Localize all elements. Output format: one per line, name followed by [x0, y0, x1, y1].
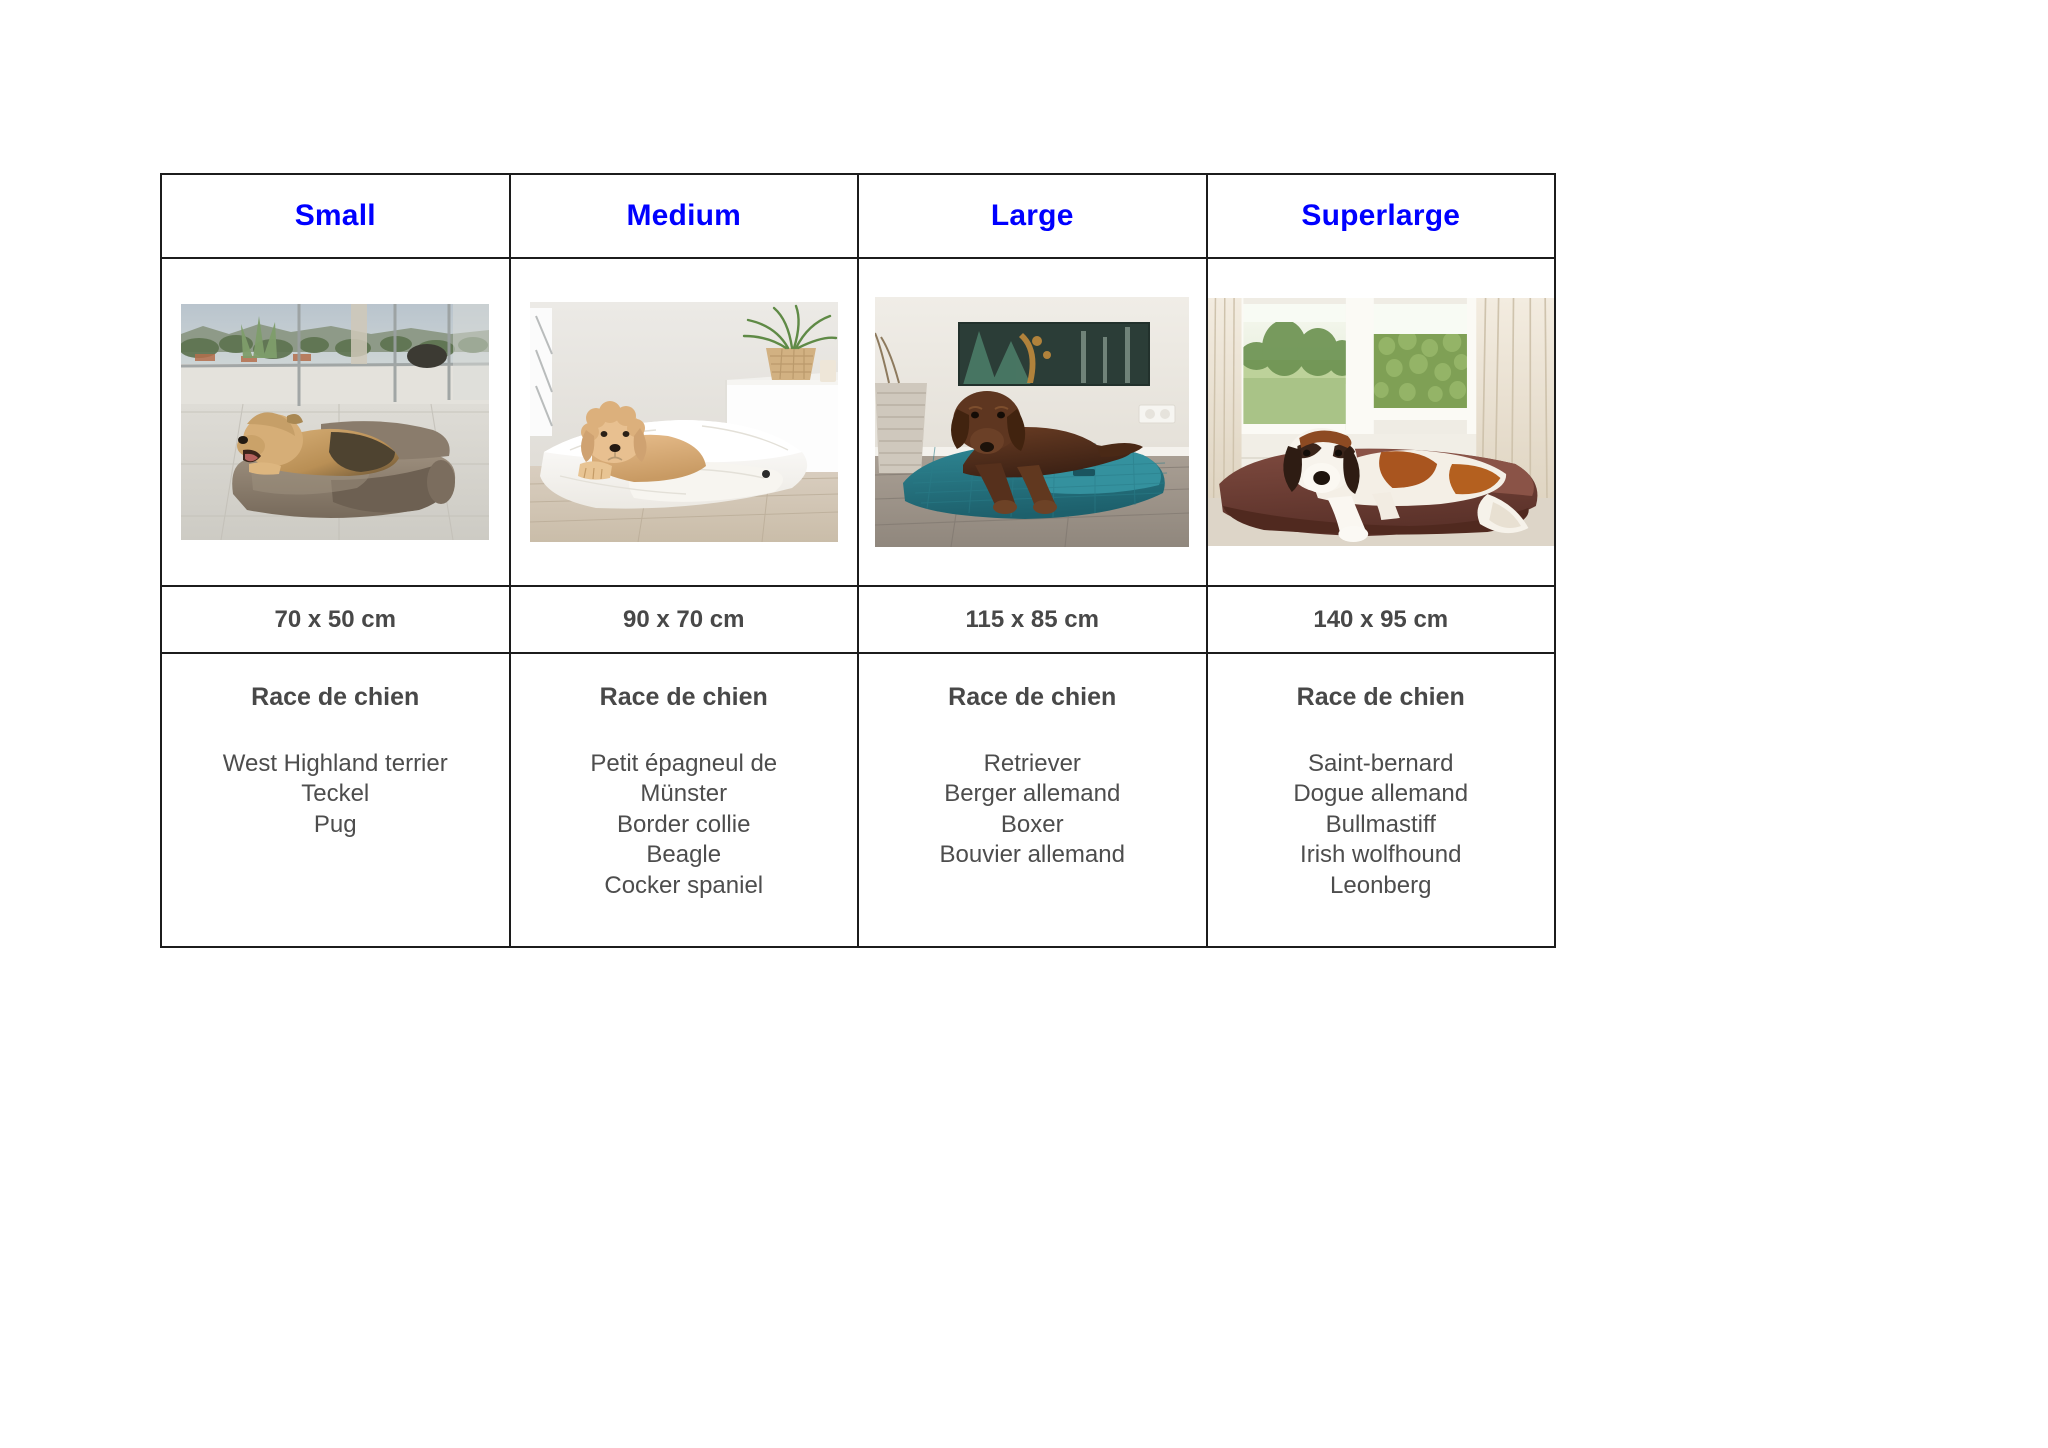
dimension-cell-medium: 90 x 70 cm: [510, 586, 859, 653]
dimension-label: 140 x 95 cm: [1208, 608, 1555, 632]
breed-title: Race de chien: [1218, 684, 1545, 712]
breed-list: Petit épagneul deMünsterBorder collieBea…: [521, 749, 848, 902]
breed-item: Berger allemand: [869, 779, 1196, 810]
column-header-label: Medium: [511, 201, 858, 231]
dimension-label: 90 x 70 cm: [511, 608, 858, 632]
breed-item: Münster: [521, 779, 848, 810]
breed-item: Border collie: [521, 810, 848, 841]
breed-cell-medium: Race de chien Petit épagneul deMünsterBo…: [510, 653, 859, 947]
breed-item: Petit épagneul de: [521, 749, 848, 780]
header-cell-medium: Medium: [510, 174, 859, 258]
breed-item: Retriever: [869, 749, 1196, 780]
header-cell-small: Small: [161, 174, 510, 258]
photo-wrapper: [162, 259, 509, 585]
breed-box: Race de chien West Highland terrierTecke…: [162, 654, 509, 840]
superlarge-dog-bed-photo: [1208, 298, 1555, 546]
breed-list: Saint-bernardDogue allemandBullmastiffIr…: [1218, 749, 1545, 902]
breed-cell-large: Race de chien RetrieverBerger allemandBo…: [858, 653, 1207, 947]
photo-wrapper: [511, 259, 858, 585]
column-header-label: Superlarge: [1208, 201, 1555, 231]
breed-list: West Highland terrierTeckelPug: [172, 749, 499, 841]
page-canvas: Small Medium Large Superlarge: [0, 0, 2048, 1448]
breed-cell-superlarge: Race de chien Saint-bernardDogue alleman…: [1207, 653, 1556, 947]
dimension-cell-superlarge: 140 x 95 cm: [1207, 586, 1556, 653]
breed-box: Race de chien Saint-bernardDogue alleman…: [1208, 654, 1555, 901]
table-photo-row: [161, 258, 1555, 586]
breed-item: West Highland terrier: [172, 749, 499, 780]
table-dimension-row: 70 x 50 cm 90 x 70 cm 115 x 85 cm 140 x …: [161, 586, 1555, 653]
small-dog-bed-photo: [181, 304, 489, 540]
large-dog-bed-photo: [875, 297, 1189, 547]
breed-cell-small: Race de chien West Highland terrierTecke…: [161, 653, 510, 947]
breed-box: Race de chien RetrieverBerger allemandBo…: [859, 654, 1206, 871]
photo-wrapper: [1208, 259, 1555, 585]
breed-title: Race de chien: [521, 684, 848, 712]
breed-item: Pug: [172, 810, 499, 841]
header-cell-large: Large: [858, 174, 1207, 258]
dimension-label: 70 x 50 cm: [162, 608, 509, 632]
breed-item: Bullmastiff: [1218, 810, 1545, 841]
breed-title: Race de chien: [172, 684, 499, 712]
table-header-row: Small Medium Large Superlarge: [161, 174, 1555, 258]
dimension-cell-large: 115 x 85 cm: [858, 586, 1207, 653]
header-cell-superlarge: Superlarge: [1207, 174, 1556, 258]
column-header-label: Large: [859, 201, 1206, 231]
breed-list: RetrieverBerger allemandBoxerBouvier all…: [869, 749, 1196, 871]
breed-item: Irish wolfhound: [1218, 840, 1545, 871]
breed-box: Race de chien Petit épagneul deMünsterBo…: [511, 654, 858, 901]
photo-cell-superlarge: [1207, 258, 1556, 586]
photo-cell-medium: [510, 258, 859, 586]
breed-item: Bouvier allemand: [869, 840, 1196, 871]
breed-item: Leonberg: [1218, 871, 1545, 902]
table-breed-row: Race de chien West Highland terrierTecke…: [161, 653, 1555, 947]
photo-cell-large: [858, 258, 1207, 586]
medium-dog-bed-photo: [530, 302, 838, 542]
dog-bed-size-chart-table: Small Medium Large Superlarge: [160, 173, 1556, 948]
breed-item: Cocker spaniel: [521, 871, 848, 902]
breed-item: Teckel: [172, 779, 499, 810]
breed-item: Boxer: [869, 810, 1196, 841]
breed-title: Race de chien: [869, 684, 1196, 712]
dimension-cell-small: 70 x 50 cm: [161, 586, 510, 653]
breed-item: Saint-bernard: [1218, 749, 1545, 780]
photo-wrapper: [859, 259, 1206, 585]
breed-item: Dogue allemand: [1218, 779, 1545, 810]
column-header-label: Small: [162, 201, 509, 231]
dimension-label: 115 x 85 cm: [859, 608, 1206, 632]
photo-cell-small: [161, 258, 510, 586]
breed-item: Beagle: [521, 840, 848, 871]
